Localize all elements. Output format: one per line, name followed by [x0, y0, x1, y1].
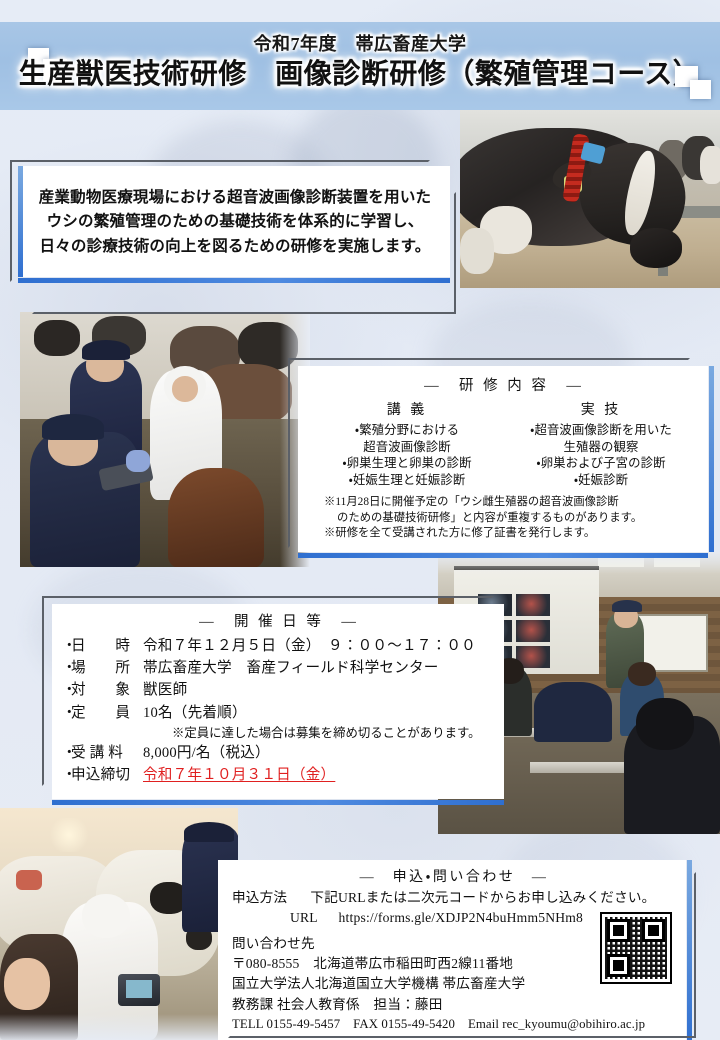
- contact-panel: — 申込・問い合わせ — 申込方法 下記URLまたは二次元コードからお申し込みく…: [218, 860, 686, 1040]
- accent-bar-bottom: [298, 553, 708, 558]
- decorative-square-icon: [690, 80, 711, 99]
- photo-veterinarians-in-barn: [20, 312, 310, 567]
- training-content-panel: — 研 修 内 容 — 講 義 ・繁殖分野における 超音波画像診断 ・卵巣生理と…: [298, 366, 708, 552]
- bracket-bottom-right: [32, 192, 456, 314]
- poster-page: 令和7年度 帯広畜産大学 生産獣医技術研修 画像診断研修（繁殖管理コース） 産業…: [0, 0, 720, 1040]
- poster-header: 令和7年度 帯広畜産大学 生産獣医技術研修 画像診断研修（繁殖管理コース）: [0, 22, 720, 110]
- photo-ultrasound-practice: [0, 808, 238, 1040]
- event-details-panel: — 開 催 日 等 — ・ 日 時 令和７年１２月５日（金） ９：００～１７：０…: [52, 604, 504, 799]
- intro-panel: 産業動物医療現場における超音波画像診断装置を用いた ウシの繁殖管理のための基礎技…: [18, 166, 450, 277]
- photo-cow-in-barn: [460, 110, 720, 288]
- bracket-bottom-right: [228, 872, 696, 1038]
- accent-bar-right: [709, 366, 714, 552]
- accent-bar-bottom: [52, 800, 504, 805]
- page-title: 生産獣医技術研修 画像診断研修（繁殖管理コース）: [0, 52, 720, 92]
- bracket-top-left: [288, 358, 690, 548]
- bracket-top-left: [42, 596, 494, 786]
